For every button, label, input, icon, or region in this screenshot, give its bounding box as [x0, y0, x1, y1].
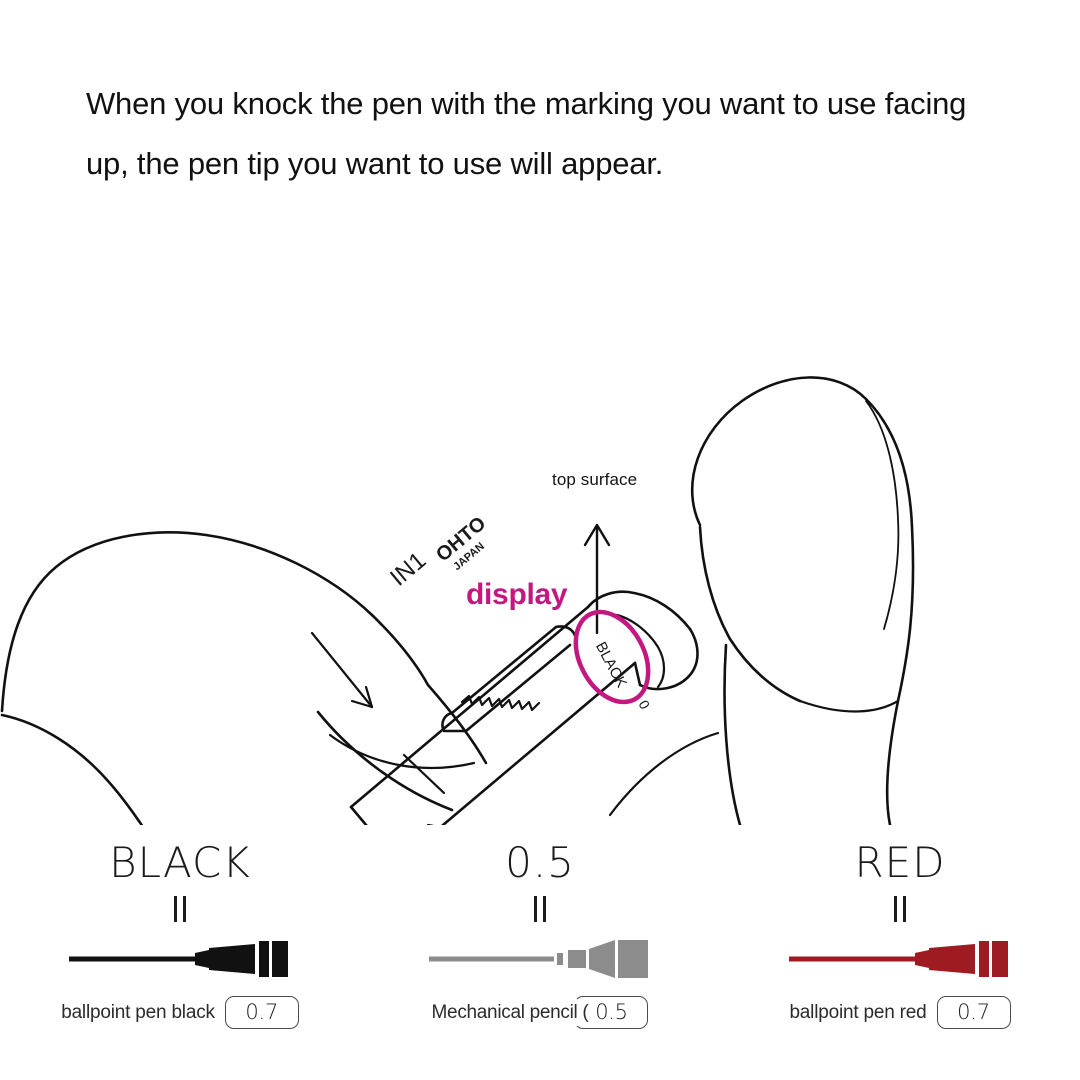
pen-marking-black: BLACK	[592, 639, 630, 690]
pen-barrel-bottom-edge	[398, 663, 635, 825]
pencil-tip-icon	[429, 936, 651, 982]
legend-title-black: BLACK	[109, 842, 251, 884]
thumb-inner-edge	[725, 645, 740, 825]
legend-title-red: RED	[854, 842, 945, 884]
size-badge-black: 0.7	[225, 996, 299, 1029]
equals-sign-icon	[534, 894, 546, 924]
top-surface-label: top surface	[552, 470, 637, 490]
pen-tip-legend: BLACK ballpoint pen black 0.7 0.5	[0, 838, 1080, 1053]
clip-serration	[462, 696, 539, 710]
legend-title-pencil: 0.5	[505, 842, 575, 884]
legend-caption-black: ballpoint pen black 0.7	[61, 996, 299, 1029]
thumb-joint-crease	[800, 701, 898, 712]
caption-text-black: ballpoint pen black	[61, 1002, 215, 1024]
hand-holding-pen-illustration: BLACK 0 OHTO JAPAN IN1 top surface displ…	[0, 215, 1080, 825]
legend-caption-red: ballpoint pen red 0.7	[789, 996, 1010, 1029]
pen-step-line-1	[404, 755, 444, 793]
pen-barrel-left-end	[351, 807, 398, 825]
heading-line-2: up, the pen tip you want to use will app…	[86, 134, 996, 194]
pen-model-marking: IN1	[385, 547, 431, 592]
legend-column-pencil: 0.5 Mechanical pencil ( 0.5	[360, 838, 720, 1053]
heading-line-1: When you knock the pen with the marking …	[86, 74, 996, 134]
size-badge-red: 0.7	[937, 996, 1011, 1029]
ballpoint-tip-icon-red	[789, 936, 1011, 982]
clip-pointer-arrow-shaft	[312, 633, 372, 707]
pen-barrel-top-edge	[351, 607, 588, 807]
size-badge-pencil: 0.5	[574, 996, 648, 1029]
equals-sign-icon	[174, 894, 186, 924]
right-index-finger	[610, 733, 718, 815]
equals-sign-icon	[894, 894, 906, 924]
page-heading: When you knock the pen with the marking …	[86, 74, 996, 195]
index-finger-lower-edge	[2, 715, 316, 825]
thumb-outline	[692, 377, 913, 825]
index-finger-outline	[2, 532, 428, 711]
caption-text-red: ballpoint pen red	[789, 1002, 926, 1024]
display-label: display	[466, 578, 567, 612]
legend-column-black: BLACK ballpoint pen black 0.7	[0, 838, 360, 1053]
thumbnail-line	[866, 401, 898, 629]
legend-column-red: RED ballpoint pen red 0.7	[720, 838, 1080, 1053]
legend-caption-pencil: Mechanical pencil ( 0.5	[432, 996, 649, 1029]
ballpoint-tip-icon-black	[69, 936, 291, 982]
caption-text-pencil: Mechanical pencil (	[432, 1002, 589, 1024]
